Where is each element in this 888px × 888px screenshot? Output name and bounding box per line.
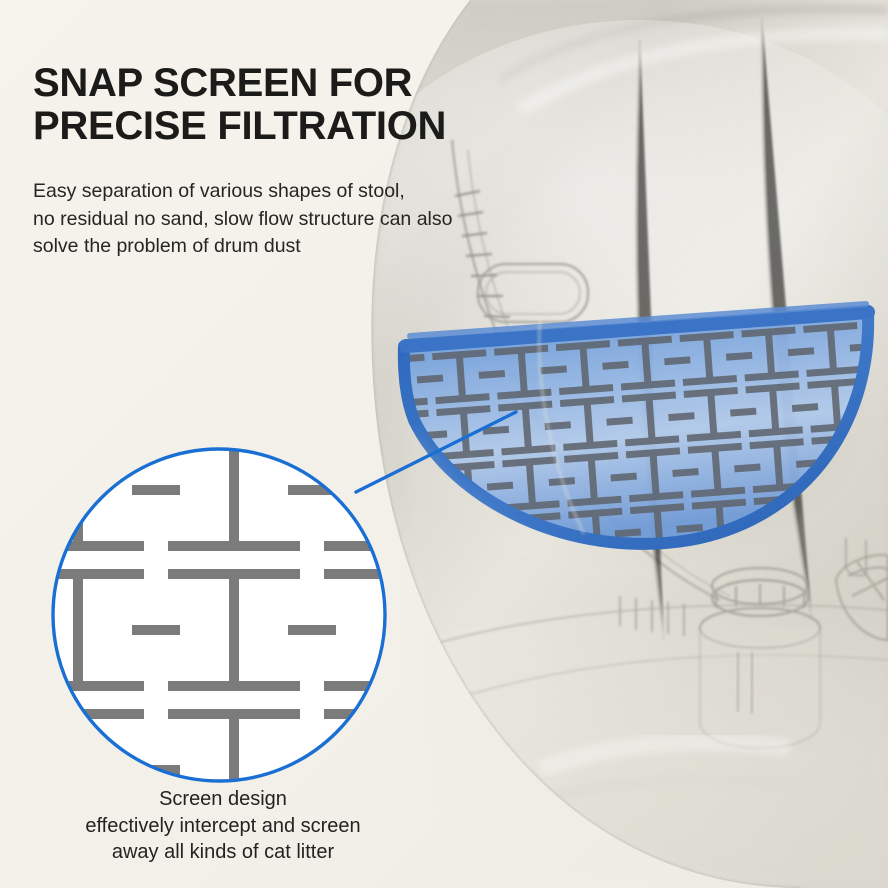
feature-description: Easy separation of various shapes of sto… <box>33 178 553 261</box>
leader-line-icon <box>356 412 516 492</box>
page-title: SNAP SCREEN FOR PRECISE FILTRATION <box>33 62 553 148</box>
magnifier-circle-icon <box>40 430 410 800</box>
product-feature-banner: SNAP SCREEN FOR PRECISE FILTRATION Easy … <box>0 0 888 888</box>
magnifier-caption: Screen design effectively intercept and … <box>38 786 408 866</box>
